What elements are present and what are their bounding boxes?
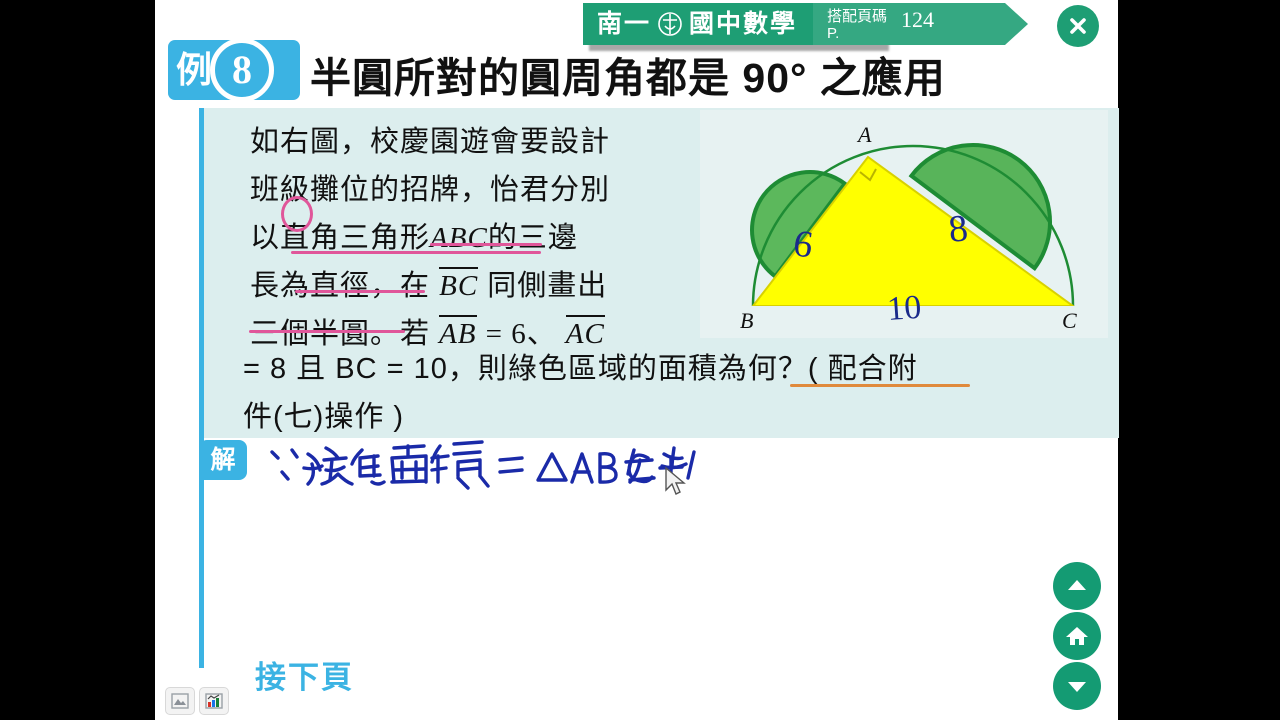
geometry-figure-svg: A B C 6 8 10	[700, 110, 1108, 338]
scroll-down-button[interactable]	[1053, 662, 1101, 710]
close-x-icon	[1067, 15, 1089, 37]
vertex-label-b: B	[740, 308, 753, 333]
question-line-3: 以直角三角形ABC的三邊	[250, 214, 710, 262]
close-button[interactable]	[1057, 5, 1099, 47]
solution-tag: 解	[199, 440, 247, 480]
vertex-label-c: C	[1062, 308, 1077, 333]
arrow-down-icon	[1064, 673, 1090, 699]
question-text-column: 如右圖，校慶園遊會要設計 班級攤位的招牌，怡君分別 以直角三角形ABC的三邊 長…	[250, 118, 710, 358]
geometry-figure: A B C 6 8 10	[700, 110, 1108, 338]
example-badge: 例 8	[168, 40, 300, 100]
scroll-up-button[interactable]	[1053, 562, 1101, 610]
page-code-label: 搭配頁碼 P.	[827, 8, 887, 43]
brand-block: 南一 國中數學	[583, 3, 813, 45]
mouse-cursor-icon	[663, 466, 687, 498]
brand-subject: 國中數學	[689, 12, 797, 37]
pen-underline-4	[249, 330, 405, 333]
vertex-label-a: A	[856, 122, 872, 147]
left-guide-line	[199, 108, 204, 668]
example-badge-circle: 8	[210, 38, 274, 102]
home-button[interactable]	[1053, 612, 1101, 660]
page-code-value: 124	[901, 8, 934, 32]
pen-underline-1	[430, 243, 542, 246]
pen-underline-3	[295, 290, 425, 293]
home-icon	[1064, 623, 1090, 649]
next-page-label[interactable]: 接下頁	[255, 652, 354, 697]
app-stage: 南一 國中數學 搭配頁碼 P. 124 例 8 半圓所對的圓周角都是 90° 之…	[0, 0, 1280, 720]
example-badge-prefix: 例	[176, 52, 212, 88]
picture-thumbnail-icon[interactable]	[165, 687, 195, 715]
page-code-chip: 搭配頁碼 P. 124	[813, 3, 1005, 45]
example-badge-number: 8	[232, 50, 252, 90]
arrow-up-icon	[1064, 573, 1090, 599]
pen-circle-annotation	[281, 196, 313, 232]
pen-underline-2	[291, 251, 541, 254]
question-line-7: 件(七)操作 )	[243, 393, 1083, 441]
brand-name: 南一	[597, 12, 651, 37]
length-label-bc: 10	[886, 289, 922, 328]
header-brand-bar: 南一 國中數學 搭配頁碼 P. 124	[583, 3, 1005, 45]
question-line-4: 長為直徑，在 BC 同側畫出	[250, 262, 710, 310]
example-title: 半圓所對的圓周角都是 90° 之應用	[310, 44, 946, 104]
solution-tag-label: 解	[210, 448, 235, 473]
question-line-1: 如右圖，校慶園遊會要設計	[250, 118, 710, 166]
media-thumbnail-icon[interactable]	[199, 687, 229, 715]
question-line-2: 班級攤位的招牌，怡君分別	[250, 166, 710, 214]
nani-seal-logo-icon	[655, 9, 685, 39]
pen-underline-5	[790, 384, 970, 387]
question-text-tail: = 8 且 BC = 10，則綠色區域的面積為何？( 配合附 件(七)操作 )	[243, 345, 1083, 441]
